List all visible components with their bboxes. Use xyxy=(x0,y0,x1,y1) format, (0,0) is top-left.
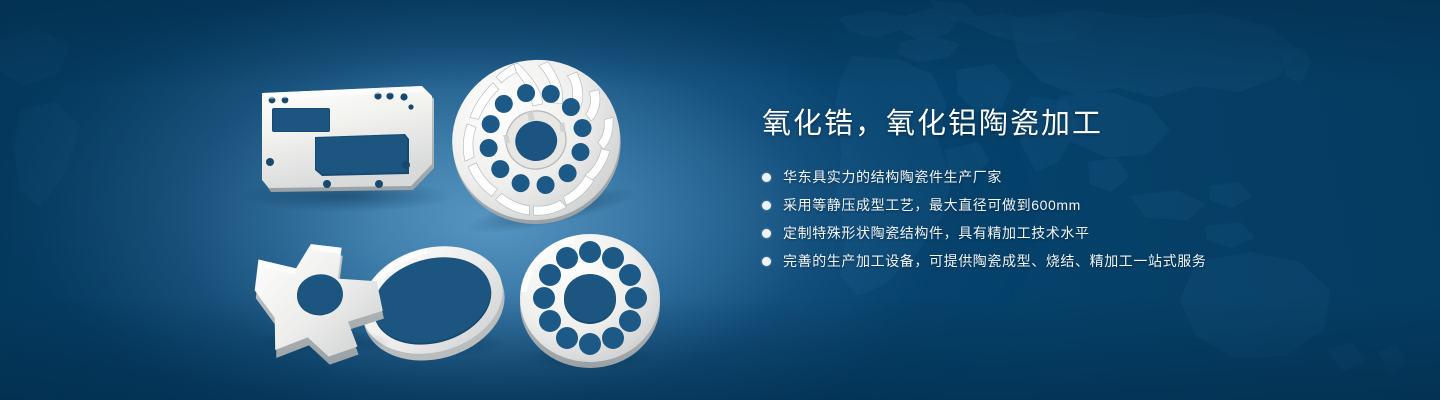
feature-text: 定制特殊形状陶瓷结构件，具有精加工技术水平 xyxy=(783,222,1090,244)
feature-list: 华东具实力的结构陶瓷件生产厂家 采用等静压成型工艺，最大直径可做到600mm 定… xyxy=(762,166,1382,272)
bullet-dot-icon xyxy=(762,229,771,238)
bullet-dot-icon xyxy=(762,201,771,210)
list-item: 完善的生产加工设备，可提供陶瓷成型、烧结、精加工一站式服务 xyxy=(762,250,1382,272)
feature-text: 华东具实力的结构陶瓷件生产厂家 xyxy=(783,166,1002,188)
ceramic-cross-shaped-part xyxy=(249,235,392,373)
ceramic-impeller-disc xyxy=(433,43,640,242)
banner-copy: 氧化锆，氧化铝陶瓷加工 华东具实力的结构陶瓷件生产厂家 采用等静压成型工艺，最大… xyxy=(762,104,1382,278)
banner-headline: 氧化锆，氧化铝陶瓷加工 xyxy=(762,104,1382,144)
promo-banner: 氧化锆，氧化铝陶瓷加工 华东具实力的结构陶瓷件生产厂家 采用等静压成型工艺，最大… xyxy=(0,0,1440,400)
ceramic-perforated-disc xyxy=(520,234,660,370)
feature-text: 采用等静压成型工艺，最大直径可做到600mm xyxy=(783,194,1081,216)
ceramic-products-collage xyxy=(0,0,760,400)
list-item: 华东具实力的结构陶瓷件生产厂家 xyxy=(762,166,1382,188)
ceramic-plate-with-cutouts xyxy=(237,86,453,212)
feature-text: 完善的生产加工设备，可提供陶瓷成型、烧结、精加工一站式服务 xyxy=(783,250,1206,272)
bullet-dot-icon xyxy=(762,257,771,266)
bullet-dot-icon xyxy=(762,173,771,182)
list-item: 采用等静压成型工艺，最大直径可做到600mm xyxy=(762,194,1382,216)
list-item: 定制特殊形状陶瓷结构件，具有精加工技术水平 xyxy=(762,222,1382,244)
